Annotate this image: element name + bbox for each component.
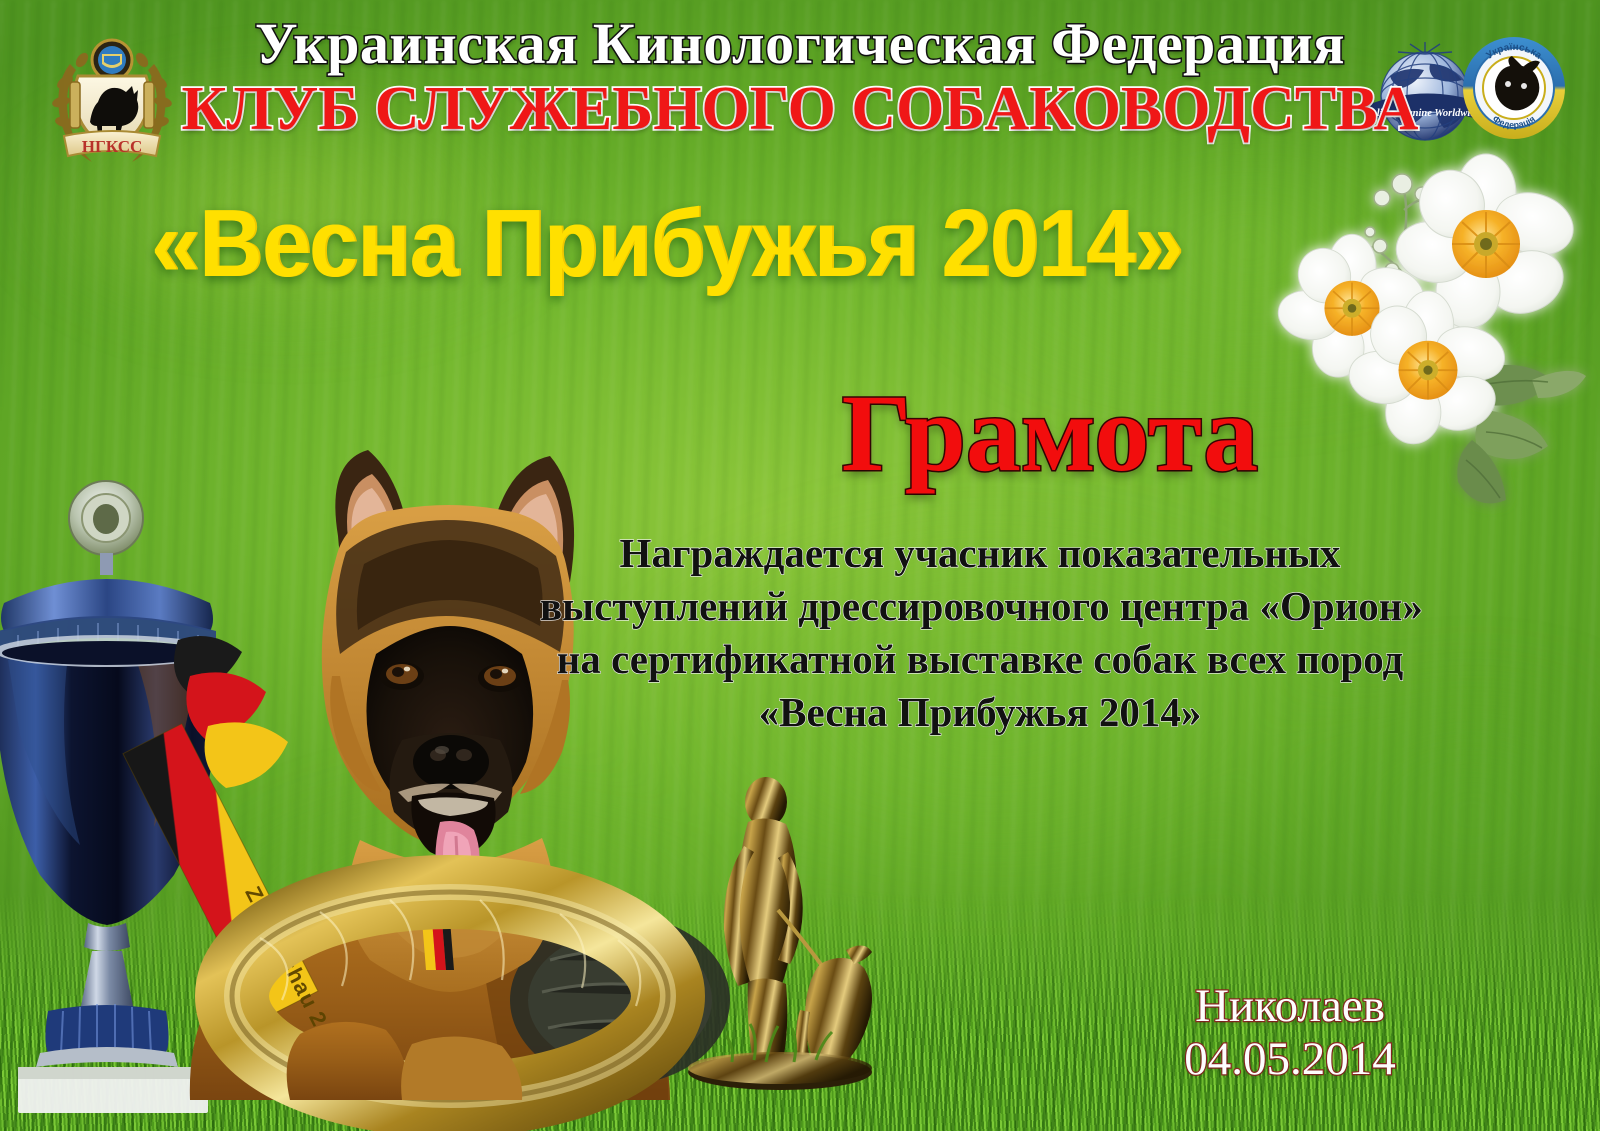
award-body-line-3: на сертификатной выставке собак всех пор…	[540, 633, 1420, 686]
award-heading: Грамота	[700, 378, 1400, 488]
footer-date: 04.05.2014	[1060, 1033, 1520, 1086]
club-name: КЛУБ СЛУЖЕБНОГО СОБАКОВОДСТВА	[0, 78, 1600, 141]
event-title: «Весна Прибужья 2014»	[64, 196, 1536, 292]
certificate-header: НГКСС	[0, 6, 1600, 161]
footer-city: Николаев	[1060, 980, 1520, 1033]
organization-name: Украинская Кинологическая Федерация	[0, 14, 1600, 73]
award-body-line-2: выступлений дрессировочного центра «Орио…	[540, 580, 1420, 633]
certificate-footer: Николаев 04.05.2014	[1060, 980, 1520, 1086]
award-body-line-1: Награждается учасник показательных	[540, 527, 1420, 580]
award-body-text: Награждается учасник показательных высту…	[540, 527, 1420, 739]
certificate-page: Zuchtschau 20	[0, 0, 1600, 1131]
award-body-line-4: «Весна Прибужья 2014»	[540, 686, 1420, 739]
